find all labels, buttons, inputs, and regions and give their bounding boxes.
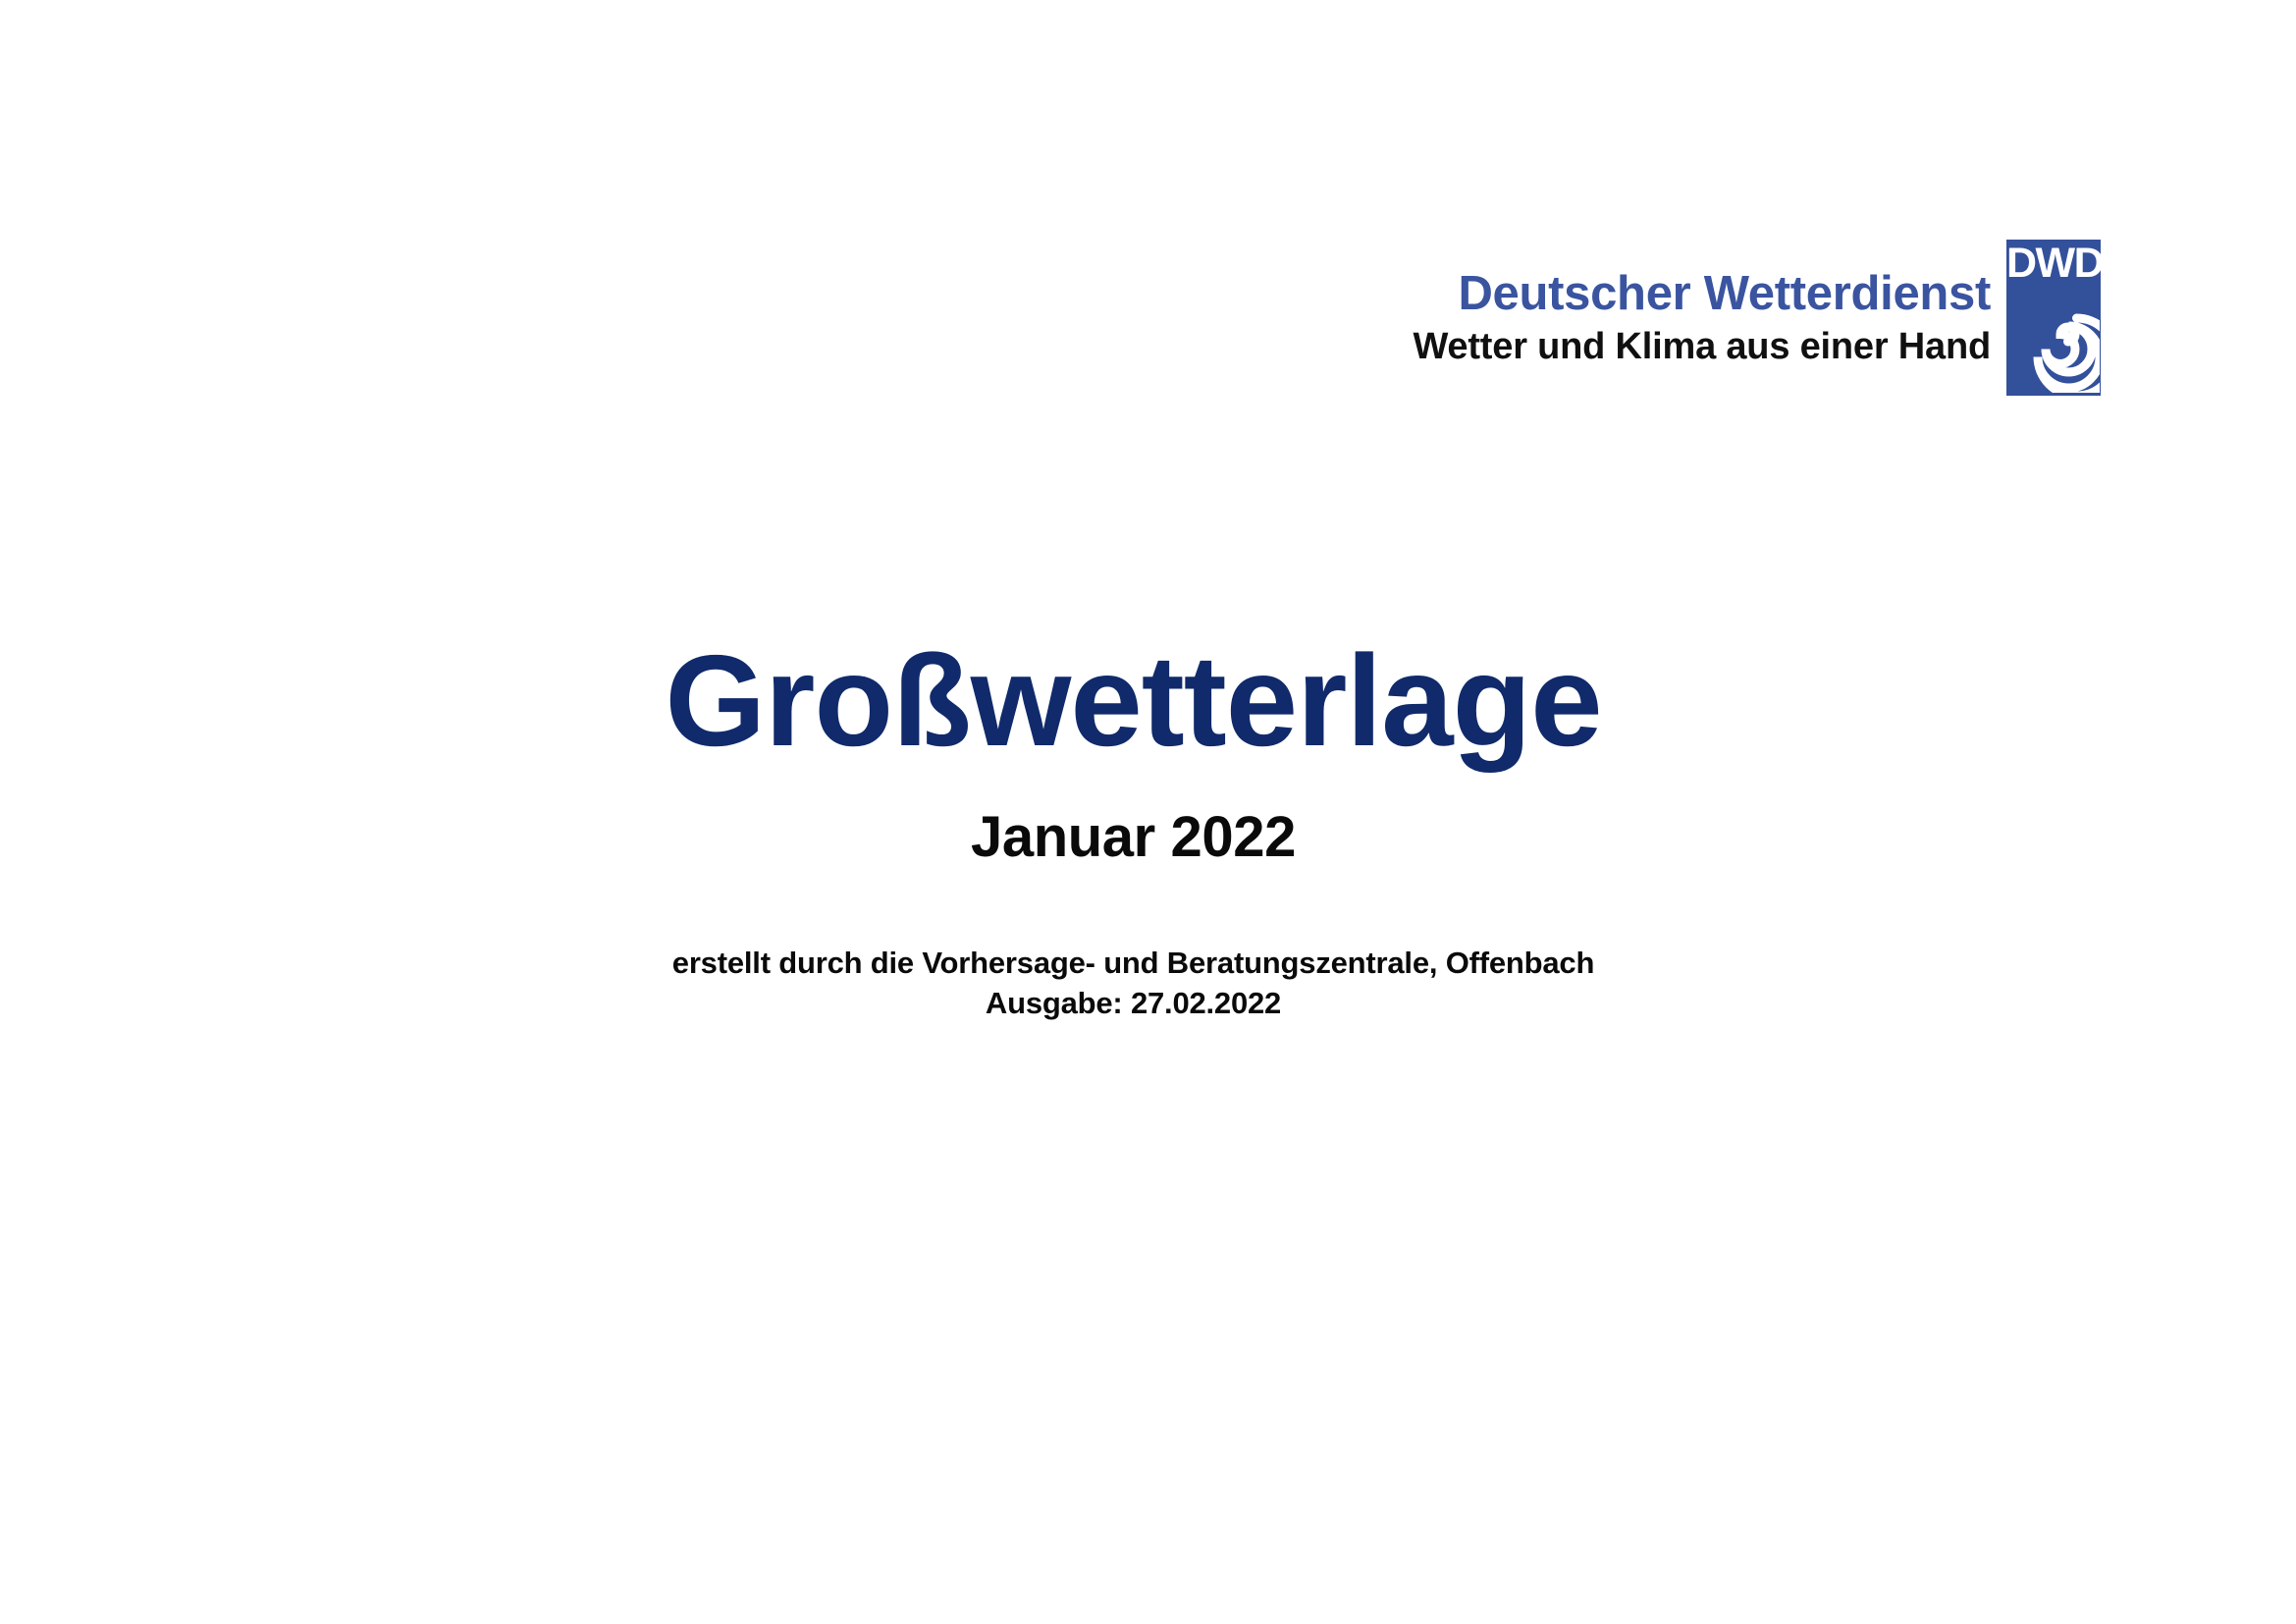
- dwd-logo: Deutscher Wetterdienst Wetter und Klima …: [1404, 236, 2101, 403]
- document-page: Deutscher Wetterdienst Wetter und Klima …: [0, 0, 2296, 1624]
- dwd-logo-mark: DWD: [2006, 240, 2101, 396]
- spiral-icon: [2007, 287, 2100, 393]
- title-block: Großwetterlage Januar 2022 erstellt durc…: [0, 628, 2267, 1024]
- credits-block: erstellt durch die Vorhersage- und Berat…: [0, 944, 2267, 1024]
- dwd-organisation-name: Deutscher Wetterdienst: [1458, 268, 1991, 320]
- credit-line-issue-date: Ausgabe: 27.02.2022: [0, 984, 2267, 1024]
- credit-line-author: erstellt durch die Vorhersage- und Berat…: [0, 944, 2267, 984]
- dwd-logo-wordmark: Deutscher Wetterdienst Wetter und Klima …: [1413, 236, 2006, 403]
- report-period: Januar 2022: [0, 803, 2267, 872]
- dwd-logo-mark-letters: DWD: [2006, 242, 2101, 286]
- dwd-tagline: Wetter und Klima aus einer Hand: [1413, 326, 1991, 369]
- page-title: Großwetterlage: [0, 628, 2267, 774]
